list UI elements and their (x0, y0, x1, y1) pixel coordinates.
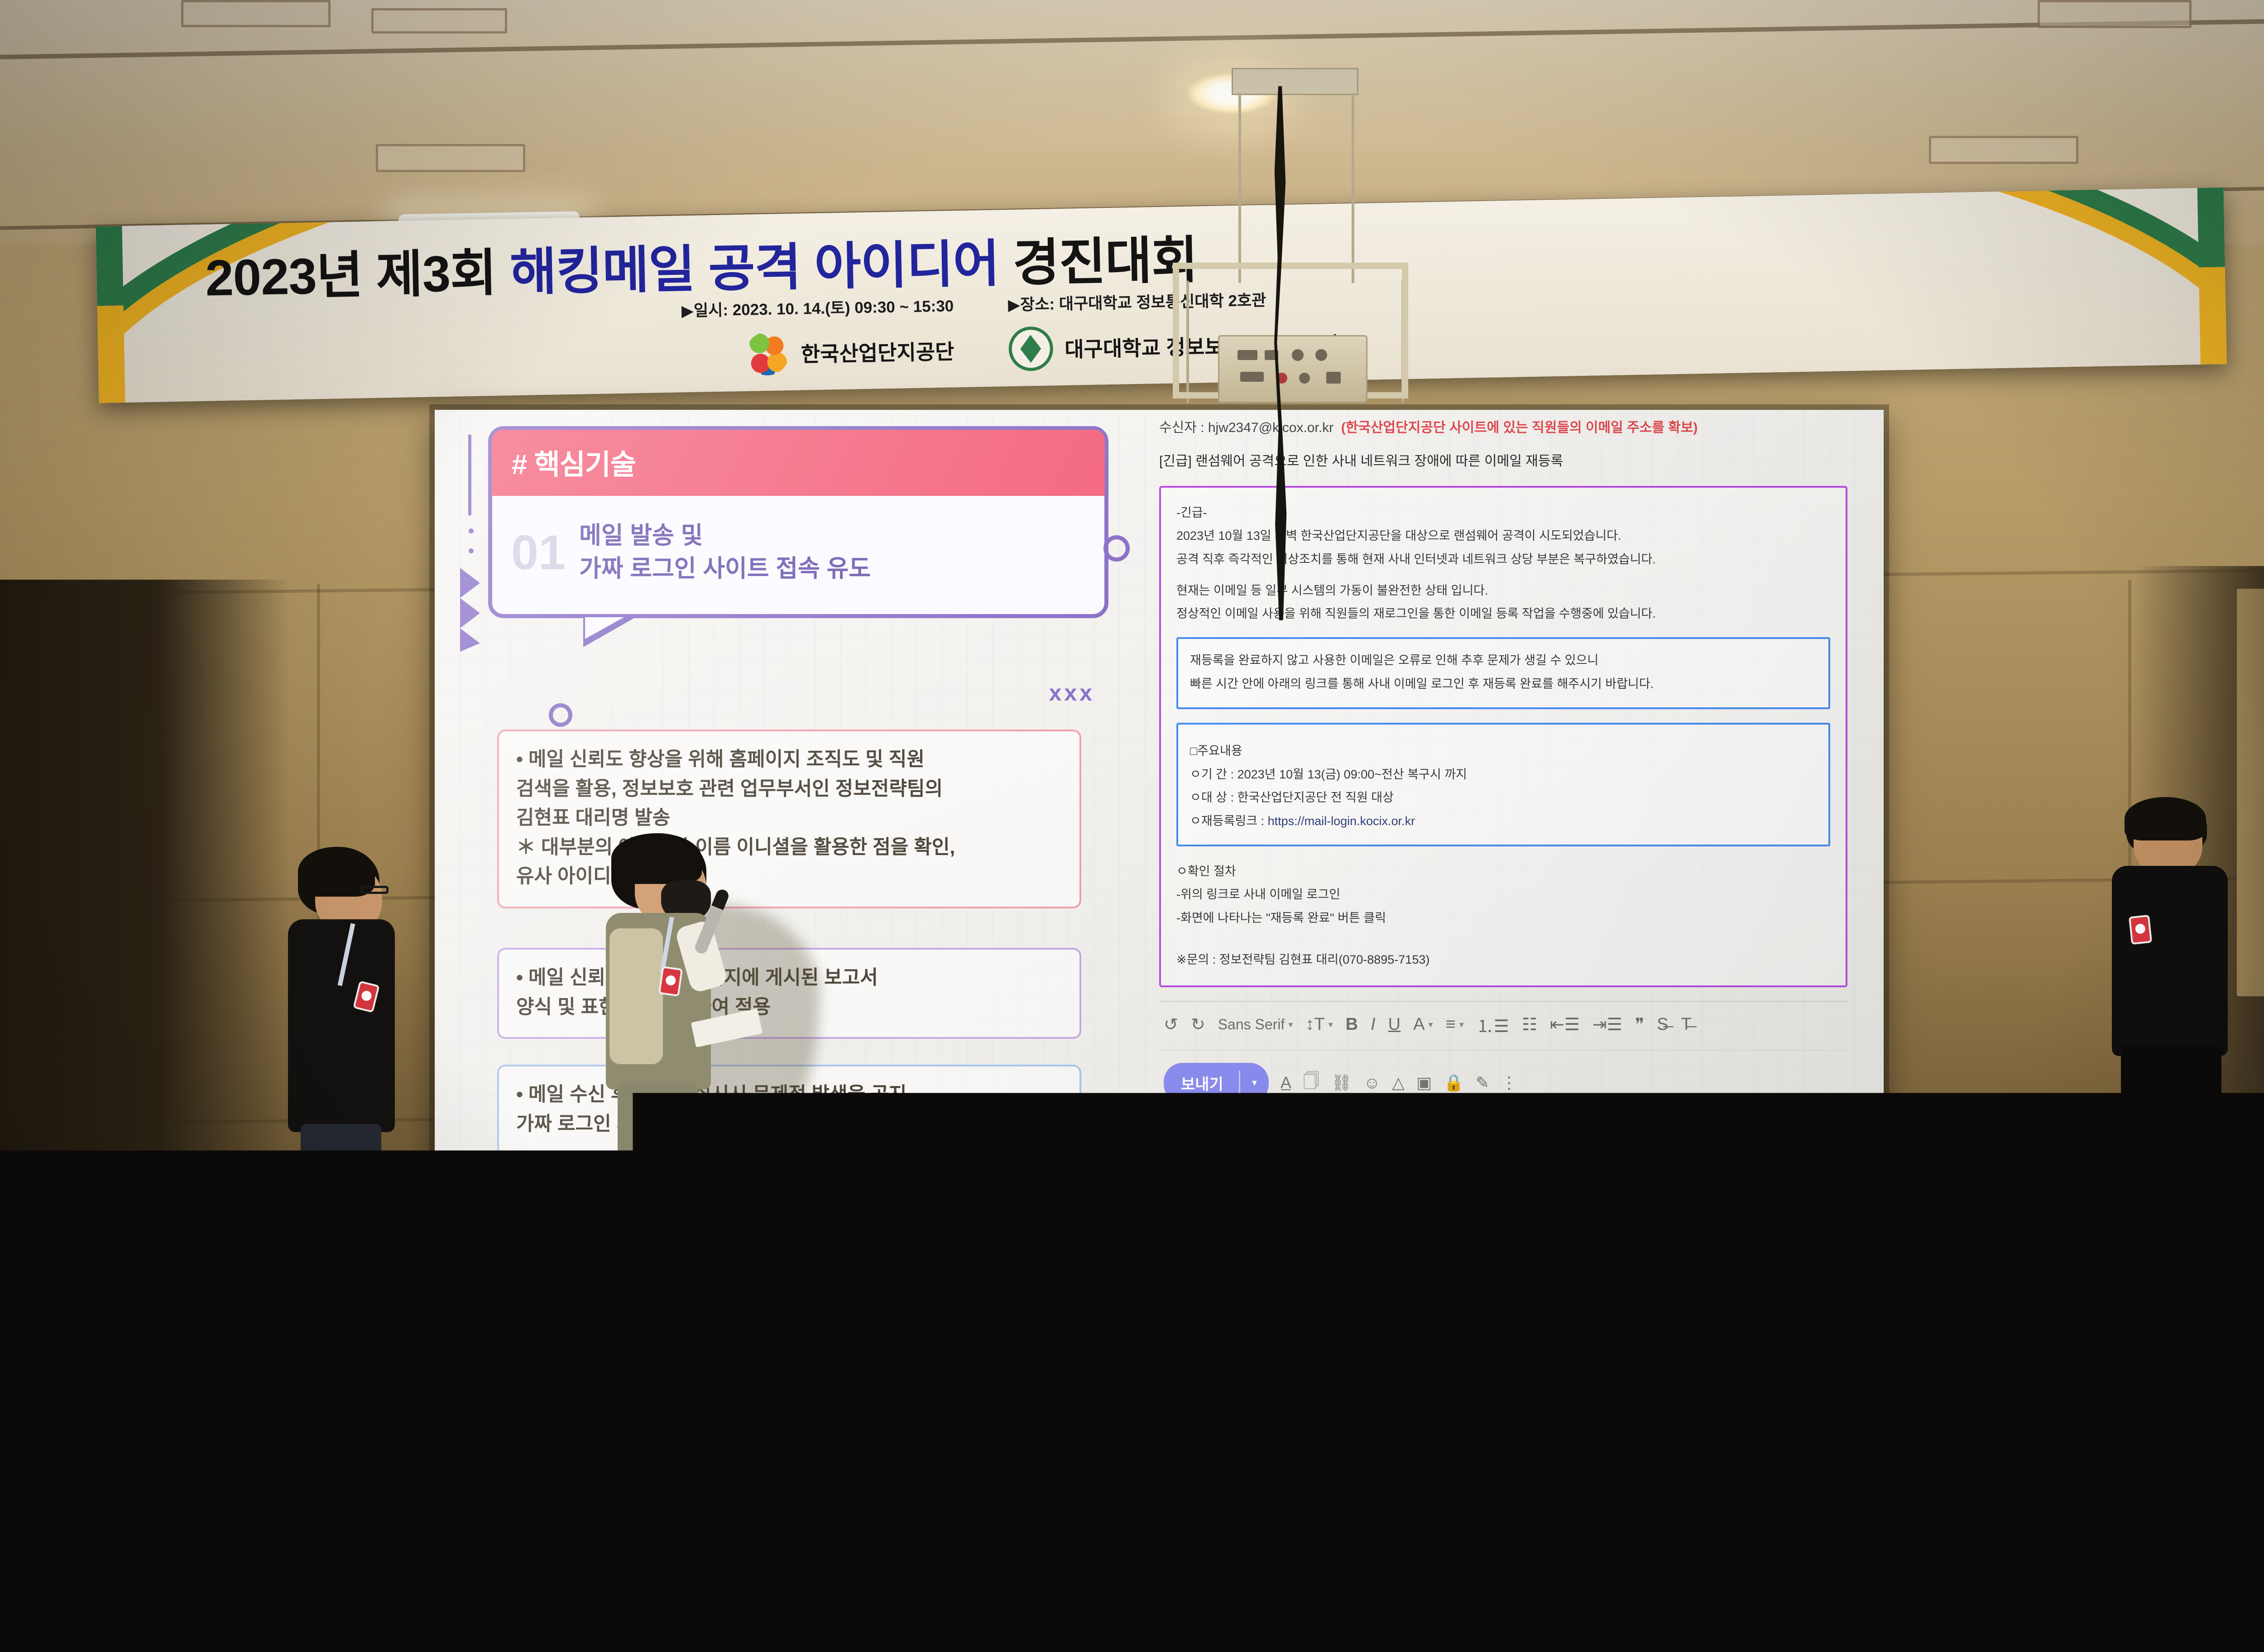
attach-file-icon[interactable]: 🗍 (1303, 1069, 1319, 1097)
seat-tablet[interactable] (297, 1574, 432, 1652)
deco-xxx: xxx (1049, 680, 1095, 706)
confidential-mode-icon[interactable]: 🔒 (1444, 1073, 1464, 1092)
step-title-line-2: 가짜 로그인 사이트 접속 유도 (579, 552, 871, 585)
audience-head (2001, 1277, 2081, 1366)
projector-port (1326, 372, 1341, 384)
chevron-down-icon: ▾ (1288, 1019, 1293, 1030)
numbered-list-icon[interactable]: ⒈☰ (1477, 1012, 1509, 1037)
key-technology-tag: # 핵심기술 (512, 442, 1085, 482)
deco-circle (549, 703, 572, 727)
projector-port (1292, 349, 1304, 361)
font-size-icon[interactable]: ↕T▾ (1305, 1015, 1333, 1034)
email-detail-key: ㅇ재등록링크 : (1190, 814, 1264, 828)
torso (2112, 866, 2228, 1056)
bold-button[interactable]: B (1346, 1015, 1358, 1034)
deco-vertical-line (468, 434, 471, 516)
remove-formatting-icon[interactable]: T̶ (1681, 1015, 1692, 1034)
rig-rod (1238, 93, 1241, 283)
audience-head (1413, 1263, 1481, 1323)
projector-port (1299, 373, 1310, 384)
seat[interactable] (448, 1372, 611, 1535)
left-arm-sleeve (609, 928, 663, 1064)
email-detail-key: ㅇ대 상 : (1190, 791, 1234, 804)
more-options-icon[interactable]: ⋮ (1501, 1073, 1517, 1092)
audience-head (2173, 1321, 2253, 1407)
banner-edge-right (2197, 187, 2227, 365)
rig-rod (1352, 93, 1354, 283)
key-technology-header: # 핵심기술 (492, 430, 1105, 496)
banner-edge-left (96, 226, 125, 403)
note-line: • 메일 신뢰도 향상을 위해 홈페이지 조직도 및 직원 (516, 745, 1062, 774)
email-detail-row: ㅇ재등록링크 : https://mail-login.kocix.or.kr (1190, 810, 1817, 833)
redo-icon[interactable]: ↻ (1191, 1014, 1205, 1035)
email-highlight-line: 빠른 시간 안에 아래의 링크를 통해 사내 이메일 로그인 후 재등록 완료를… (1190, 672, 1817, 696)
ceiling-panel (181, 0, 331, 27)
audience-shoulders (1961, 1345, 2115, 1490)
deco-circle (1103, 535, 1130, 562)
audience-head (349, 1301, 435, 1394)
email-registration-link[interactable]: https://mail-login.kocix.or.kr (1268, 814, 1415, 828)
audience-head (1571, 1263, 1642, 1330)
projector-port (1238, 350, 1257, 360)
key-technology-callout: # 핵심기술 01 메일 발송 및 가짜 로그인 사이트 접속 유도 (488, 426, 1108, 618)
send-button[interactable]: 보내기 ▾ (1164, 1063, 1269, 1103)
ceiling-projector-rig (1159, 68, 1431, 611)
deco-dot (469, 548, 474, 553)
note-line: 검색을 활용, 정보보호 관련 업무부서인 정보전략팀의 (516, 774, 1062, 804)
audience-head (208, 1437, 321, 1564)
standing-student-right-white-shirt (2219, 792, 2264, 1267)
insert-emoji-icon[interactable]: ☺ (1364, 1073, 1381, 1092)
send-dropdown-chevron-down-icon[interactable]: ▾ (1240, 1068, 1269, 1098)
standing-student-left (272, 847, 421, 1254)
formatting-options-icon[interactable]: A̲ (1281, 1073, 1291, 1092)
projector-body (1218, 335, 1367, 403)
strikethrough-icon[interactable]: S̶ (1657, 1015, 1668, 1034)
ceiling-panel (371, 8, 507, 34)
audience-head (1721, 1263, 1789, 1321)
email-procedure-title: ㅇ확인 절차 (1176, 860, 1830, 883)
note-line: 김현표 대리명 발송 (516, 803, 1062, 833)
email-procedure-step: -화면에 나타나는 "재등록 완료" 버튼 클릭 (1176, 907, 1830, 930)
kicox-logo-icon (745, 331, 790, 376)
italic-button[interactable]: I (1371, 1015, 1376, 1034)
email-detail-key: ㅇ기 간 : (1190, 768, 1234, 781)
step-title-line-1: 메일 발송 및 (579, 519, 871, 552)
audience-head (5, 1303, 91, 1397)
projector-port (1240, 372, 1264, 382)
name-badge (658, 966, 683, 997)
slide-decoration-column (462, 434, 480, 688)
deco-dot (469, 528, 474, 533)
email-procedure-step: -위의 링크로 사내 이메일 로그인 (1176, 883, 1830, 906)
email-contact-line: ※문의 : 정보전략팀 김현표 대리(070-8895-7153) (1176, 950, 1830, 967)
ceiling-panel (1929, 136, 2078, 164)
audience-head (1684, 1441, 1798, 1568)
email-main-section-title: □주요내용 (1190, 741, 1817, 759)
audience-head (172, 1297, 261, 1393)
audience-head (1377, 1317, 1456, 1403)
torso (288, 919, 395, 1132)
insert-drive-icon[interactable]: △ (1392, 1073, 1405, 1092)
legs (618, 1083, 698, 1278)
insert-signature-icon[interactable]: ✎ (1476, 1073, 1489, 1092)
sponsor-kicox-label: 한국산업단지공단 (801, 335, 955, 368)
audience-seating (0, 1263, 2264, 1652)
email-detail-value: 2023년 10월 13(금) 09:00~전산 복구시 까지 (1238, 768, 1467, 781)
audience-head (629, 1454, 738, 1577)
indent-more-icon[interactable]: ⇥☰ (1592, 1014, 1622, 1035)
ceiling-panel (2038, 0, 2192, 28)
name-badge (2129, 915, 2152, 945)
callout-tail-inner (585, 617, 624, 639)
daegu-university-logo-icon (1008, 326, 1053, 371)
audience-head (498, 1293, 587, 1389)
screenshot-root: 2023년 제3회 해킹메일 공격 아이디어 경진대회 ▶일시: 2023. 1… (0, 0, 2264, 1652)
audience-head (670, 1300, 756, 1394)
deco-zigzag (460, 568, 480, 652)
email-highlight-line: 재등록을 완료하지 않고 사용한 이메일은 오류로 인해 추후 문제가 생길 수… (1190, 649, 1817, 672)
step-content: 01 메일 발송 및 가짜 로그인 사이트 접속 유도 (492, 495, 1104, 614)
slide-left-column: # 핵심기술 01 메일 발송 및 가짜 로그인 사이트 접속 유도 xxx •… (488, 426, 1108, 618)
legs (301, 1124, 381, 1255)
banner-title-highlight: 해킹메일 공격 아이디어 (509, 235, 1000, 301)
send-button-label: 보내기 (1164, 1063, 1239, 1103)
step-title: 메일 발송 및 가짜 로그인 사이트 접속 유도 (579, 519, 871, 585)
insert-link-icon[interactable]: ⛓ (1331, 1073, 1352, 1092)
email-detail-value: 한국산업단지공단 전 직원 대상 (1238, 791, 1394, 804)
indent-less-icon[interactable]: ⇤☰ (1550, 1014, 1580, 1035)
banner-title-part1: 2023년 제3회 (205, 244, 510, 306)
seat-tablet[interactable] (510, 1575, 644, 1652)
banner-date: ▶일시: 2023. 10. 14.(토) 09:30 ~ 15:30 (681, 297, 954, 320)
email-detail-row: ㅇ기 간 : 2023년 10월 13(금) 09:00~전산 복구시 까지 (1190, 763, 1817, 786)
ceiling-panel (376, 144, 525, 172)
underline-button[interactable]: U (1388, 1015, 1401, 1034)
compose-formatting-toolbar[interactable]: ↺ ↻ Sans Serif ▾ ↕T▾ B I U A▾ ≡▾ ⒈☰ ☷ ⇤☰… (1159, 1002, 1847, 1046)
compose-action-bar[interactable]: 보내기 ▾ A̲ 🗍 ⛓ ☺ △ ▣ 🔒 ✎ ⋮ (1159, 1051, 1847, 1106)
undo-icon[interactable]: ↺ (1164, 1014, 1178, 1035)
hair-front (2239, 792, 2264, 833)
font-family-selector[interactable]: Sans Serif ▾ (1218, 1016, 1293, 1033)
audience-head (2101, 1444, 2214, 1570)
legs (2239, 1034, 2264, 1261)
email-detail-row: ㅇ대 상 : 한국산업단지공단 전 직원 대상 (1190, 786, 1817, 809)
font-family-value: Sans Serif (1218, 1016, 1285, 1033)
glasses-icon (360, 886, 389, 894)
audience-head (1884, 1263, 1952, 1329)
seat[interactable] (720, 1522, 910, 1652)
torso (2230, 860, 2264, 1045)
email-highlight-box-2: □주요내용 ㅇ기 간 : 2023년 10월 13(금) 09:00~전산 복구… (1176, 723, 1830, 846)
audience-head (1549, 1321, 1628, 1407)
legs (2121, 1045, 2221, 1272)
hair-front (2125, 797, 2206, 840)
rig-mount-plate (1232, 68, 1358, 95)
insert-photo-icon[interactable]: ▣ (1416, 1073, 1432, 1092)
hair-front (611, 833, 702, 884)
step-number: 01 (511, 530, 566, 574)
sponsor-kicox: 한국산업단지공단 (745, 328, 955, 375)
bulleted-list-icon[interactable]: ☷ (1522, 1014, 1537, 1035)
audience-head (1485, 1445, 1598, 1571)
projector-port (1315, 349, 1327, 361)
presenter (584, 833, 747, 1286)
text-color-icon[interactable]: A▾ (1413, 1015, 1433, 1034)
audience-head (27, 1445, 140, 1571)
email-highlight-box-1: 재등록을 완료하지 않고 사용한 이메일은 오류로 인해 추후 문제가 생길 수… (1176, 637, 1830, 709)
align-icon[interactable]: ≡▾ (1446, 1015, 1464, 1034)
quote-icon[interactable]: ❞ (1635, 1014, 1644, 1035)
